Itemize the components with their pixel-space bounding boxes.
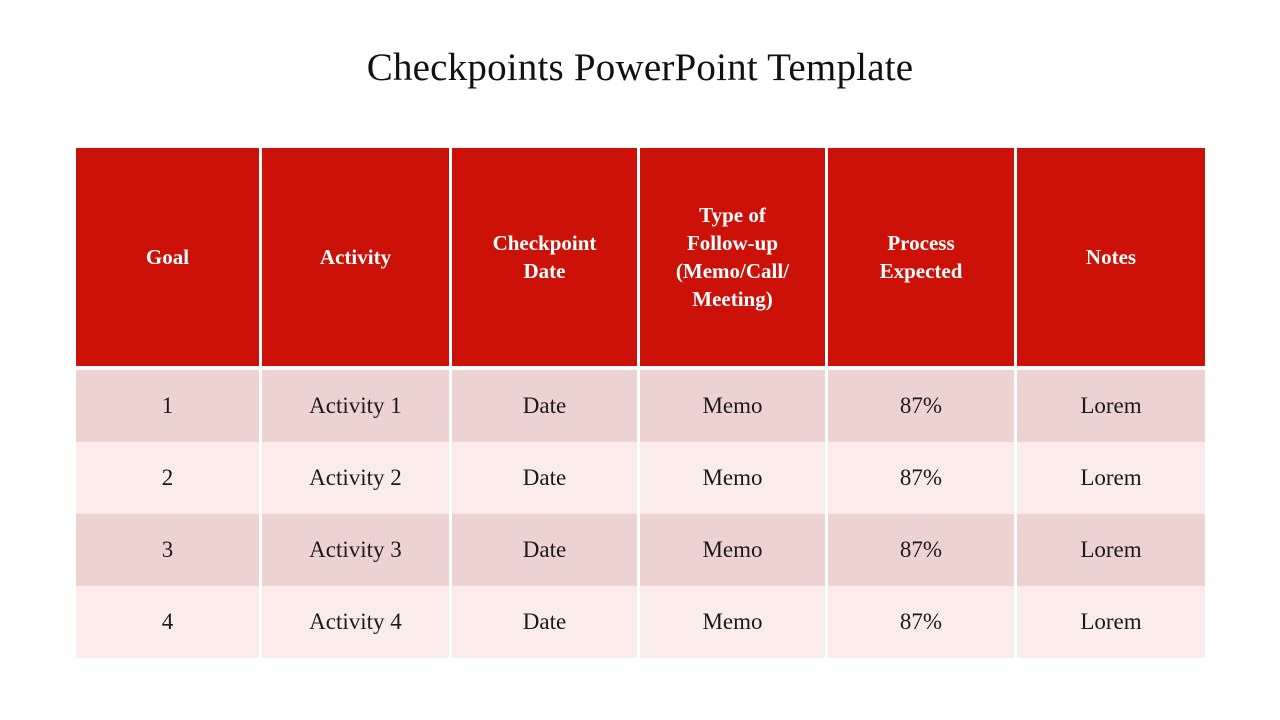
column-header-process-expected-line-2: Expected xyxy=(836,257,1006,285)
column-header-notes-line-1: Notes xyxy=(1025,243,1197,271)
column-header-type-of-follow-up-line-2: Follow-up xyxy=(648,229,817,257)
column-header-type-of-follow-up-line-3: (Memo/Call/ xyxy=(648,257,817,285)
table-body: 1 Activity 1 Date Memo 87% Lorem 2 Activ… xyxy=(76,370,1205,658)
cell-activity[interactable]: Activity 1 xyxy=(262,370,452,442)
column-header-process-expected[interactable]: Process Expected xyxy=(828,148,1017,370)
table-row[interactable]: 3 Activity 3 Date Memo 87% Lorem xyxy=(76,514,1205,586)
cell-notes[interactable]: Lorem xyxy=(1017,514,1205,586)
cell-activity[interactable]: Activity 3 xyxy=(262,514,452,586)
column-header-activity[interactable]: Activity xyxy=(262,148,452,370)
cell-process-expected[interactable]: 87% xyxy=(828,442,1017,514)
cell-goal[interactable]: 3 xyxy=(76,514,262,586)
column-header-type-of-follow-up-line-1: Type of xyxy=(648,201,817,229)
table-row[interactable]: 4 Activity 4 Date Memo 87% Lorem xyxy=(76,586,1205,658)
column-header-process-expected-line-1: Process xyxy=(836,229,1006,257)
column-header-checkpoint-date[interactable]: Checkpoint Date xyxy=(452,148,640,370)
cell-checkpoint-date[interactable]: Date xyxy=(452,370,640,442)
checkpoints-table-container: Goal Activity Checkpoint Date Type of Fo… xyxy=(76,148,1205,661)
cell-notes[interactable]: Lorem xyxy=(1017,586,1205,658)
table-header: Goal Activity Checkpoint Date Type of Fo… xyxy=(76,148,1205,370)
table-header-row: Goal Activity Checkpoint Date Type of Fo… xyxy=(76,148,1205,370)
cell-process-expected[interactable]: 87% xyxy=(828,514,1017,586)
column-header-checkpoint-date-line-1: Checkpoint xyxy=(460,229,629,257)
cell-checkpoint-date[interactable]: Date xyxy=(452,586,640,658)
cell-activity[interactable]: Activity 4 xyxy=(262,586,452,658)
cell-goal[interactable]: 4 xyxy=(76,586,262,658)
column-header-type-of-follow-up[interactable]: Type of Follow-up (Memo/Call/ Meeting) xyxy=(640,148,828,370)
cell-type-of-follow-up[interactable]: Memo xyxy=(640,370,828,442)
cell-checkpoint-date[interactable]: Date xyxy=(452,442,640,514)
column-header-activity-line-1: Activity xyxy=(270,243,441,271)
checkpoints-table: Goal Activity Checkpoint Date Type of Fo… xyxy=(76,148,1205,658)
cell-process-expected[interactable]: 87% xyxy=(828,586,1017,658)
cell-goal[interactable]: 1 xyxy=(76,370,262,442)
column-header-goal-line-1: Goal xyxy=(84,243,251,271)
cell-activity[interactable]: Activity 2 xyxy=(262,442,452,514)
cell-type-of-follow-up[interactable]: Memo xyxy=(640,514,828,586)
cell-type-of-follow-up[interactable]: Memo xyxy=(640,442,828,514)
cell-process-expected[interactable]: 87% xyxy=(828,370,1017,442)
table-row[interactable]: 2 Activity 2 Date Memo 87% Lorem xyxy=(76,442,1205,514)
slide-canvas: Checkpoints PowerPoint Template Goal Act… xyxy=(0,0,1280,720)
cell-checkpoint-date[interactable]: Date xyxy=(452,514,640,586)
table-row[interactable]: 1 Activity 1 Date Memo 87% Lorem xyxy=(76,370,1205,442)
column-header-notes[interactable]: Notes xyxy=(1017,148,1205,370)
column-header-goal[interactable]: Goal xyxy=(76,148,262,370)
cell-notes[interactable]: Lorem xyxy=(1017,370,1205,442)
cell-type-of-follow-up[interactable]: Memo xyxy=(640,586,828,658)
cell-goal[interactable]: 2 xyxy=(76,442,262,514)
column-header-checkpoint-date-line-2: Date xyxy=(460,257,629,285)
column-header-type-of-follow-up-line-4: Meeting) xyxy=(648,285,817,313)
cell-notes[interactable]: Lorem xyxy=(1017,442,1205,514)
page-title: Checkpoints PowerPoint Template xyxy=(0,44,1280,92)
